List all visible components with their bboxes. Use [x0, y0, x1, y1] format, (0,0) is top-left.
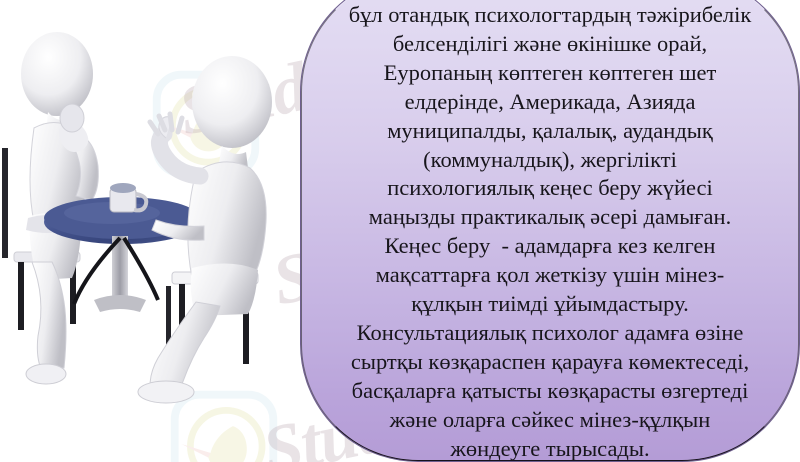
panel-line: басқаларға қатысты көзқарасты өзгертеді — [315, 377, 785, 406]
panel-paragraph: бұл отандық психологтардың тәжірибелік б… — [301, 1, 799, 462]
panel-line: сыртқы көзқараспен қарауға көмектеседі, — [315, 348, 785, 377]
panel-line: елдерінде, Америкада, Азияда — [315, 88, 785, 117]
panel-line: мақсаттарға қол жеткізу үшін мінез- — [315, 261, 785, 290]
panel-line: маңызды практикалық әсері дамыған. — [315, 203, 785, 232]
panel-line: Консультациялық психолог адамға өзіне — [315, 319, 785, 348]
panel-line: құлқын тиімді ұйымдастыру. — [315, 290, 785, 319]
panel-line: Кеңес беру - адамдарға кез келген — [315, 232, 785, 261]
panel-line: психологиялық кеңес беру жүйесі — [315, 174, 785, 203]
panel-line: жөндеуге тырысады. — [315, 435, 785, 462]
panel-line: (коммуналдық), жергілікті — [315, 146, 785, 175]
illustration-two-figures-at-table — [0, 0, 310, 462]
panel-line: бұл отандық психологтардың тәжірибелік — [315, 1, 785, 30]
figure-right — [138, 56, 272, 403]
panel-line: муниципалды, қалалық, аудандық — [315, 117, 785, 146]
text-panel: бұл отандық психологтардың тәжірибелік б… — [300, 0, 800, 462]
panel-line: белсенділігі және өкінішке орай, — [315, 30, 785, 59]
panel-line: Еуропаның көптеген көптеген шет — [315, 59, 785, 88]
panel-line: және оларға сәйкес мінез-құлқын — [315, 406, 785, 435]
presentation-slide: Stud.kz Stud.kz Stud.kz — [0, 0, 800, 462]
